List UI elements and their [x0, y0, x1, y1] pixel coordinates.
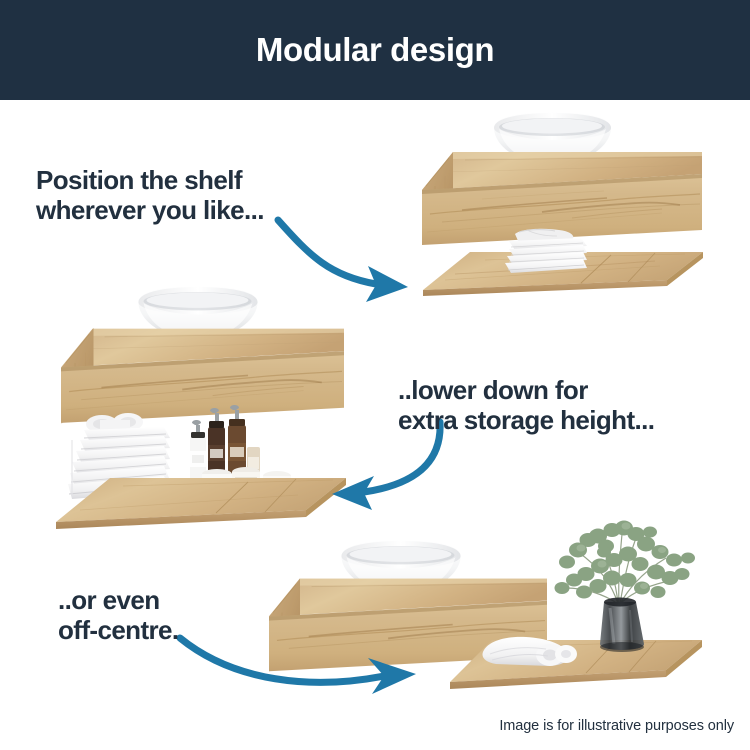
header-banner: Modular design	[0, 0, 750, 100]
eucalyptus-plant-vase	[540, 518, 700, 658]
arrow-to-bottom-shelf	[172, 632, 432, 702]
callout-lower-down: ..lower down for extra storage height...	[398, 376, 654, 435]
scene-shelf-high	[405, 110, 750, 305]
illustrative-note: Image is for illustrative purposes only	[499, 718, 734, 734]
callout-off-centre: ..or even off-centre.	[58, 586, 179, 645]
callout-position-shelf: Position the shelf wherever you like...	[36, 166, 264, 225]
page-title: Modular design	[256, 31, 494, 69]
folded-towels	[493, 228, 598, 276]
modular-design-infographic: Modular design	[0, 0, 750, 750]
